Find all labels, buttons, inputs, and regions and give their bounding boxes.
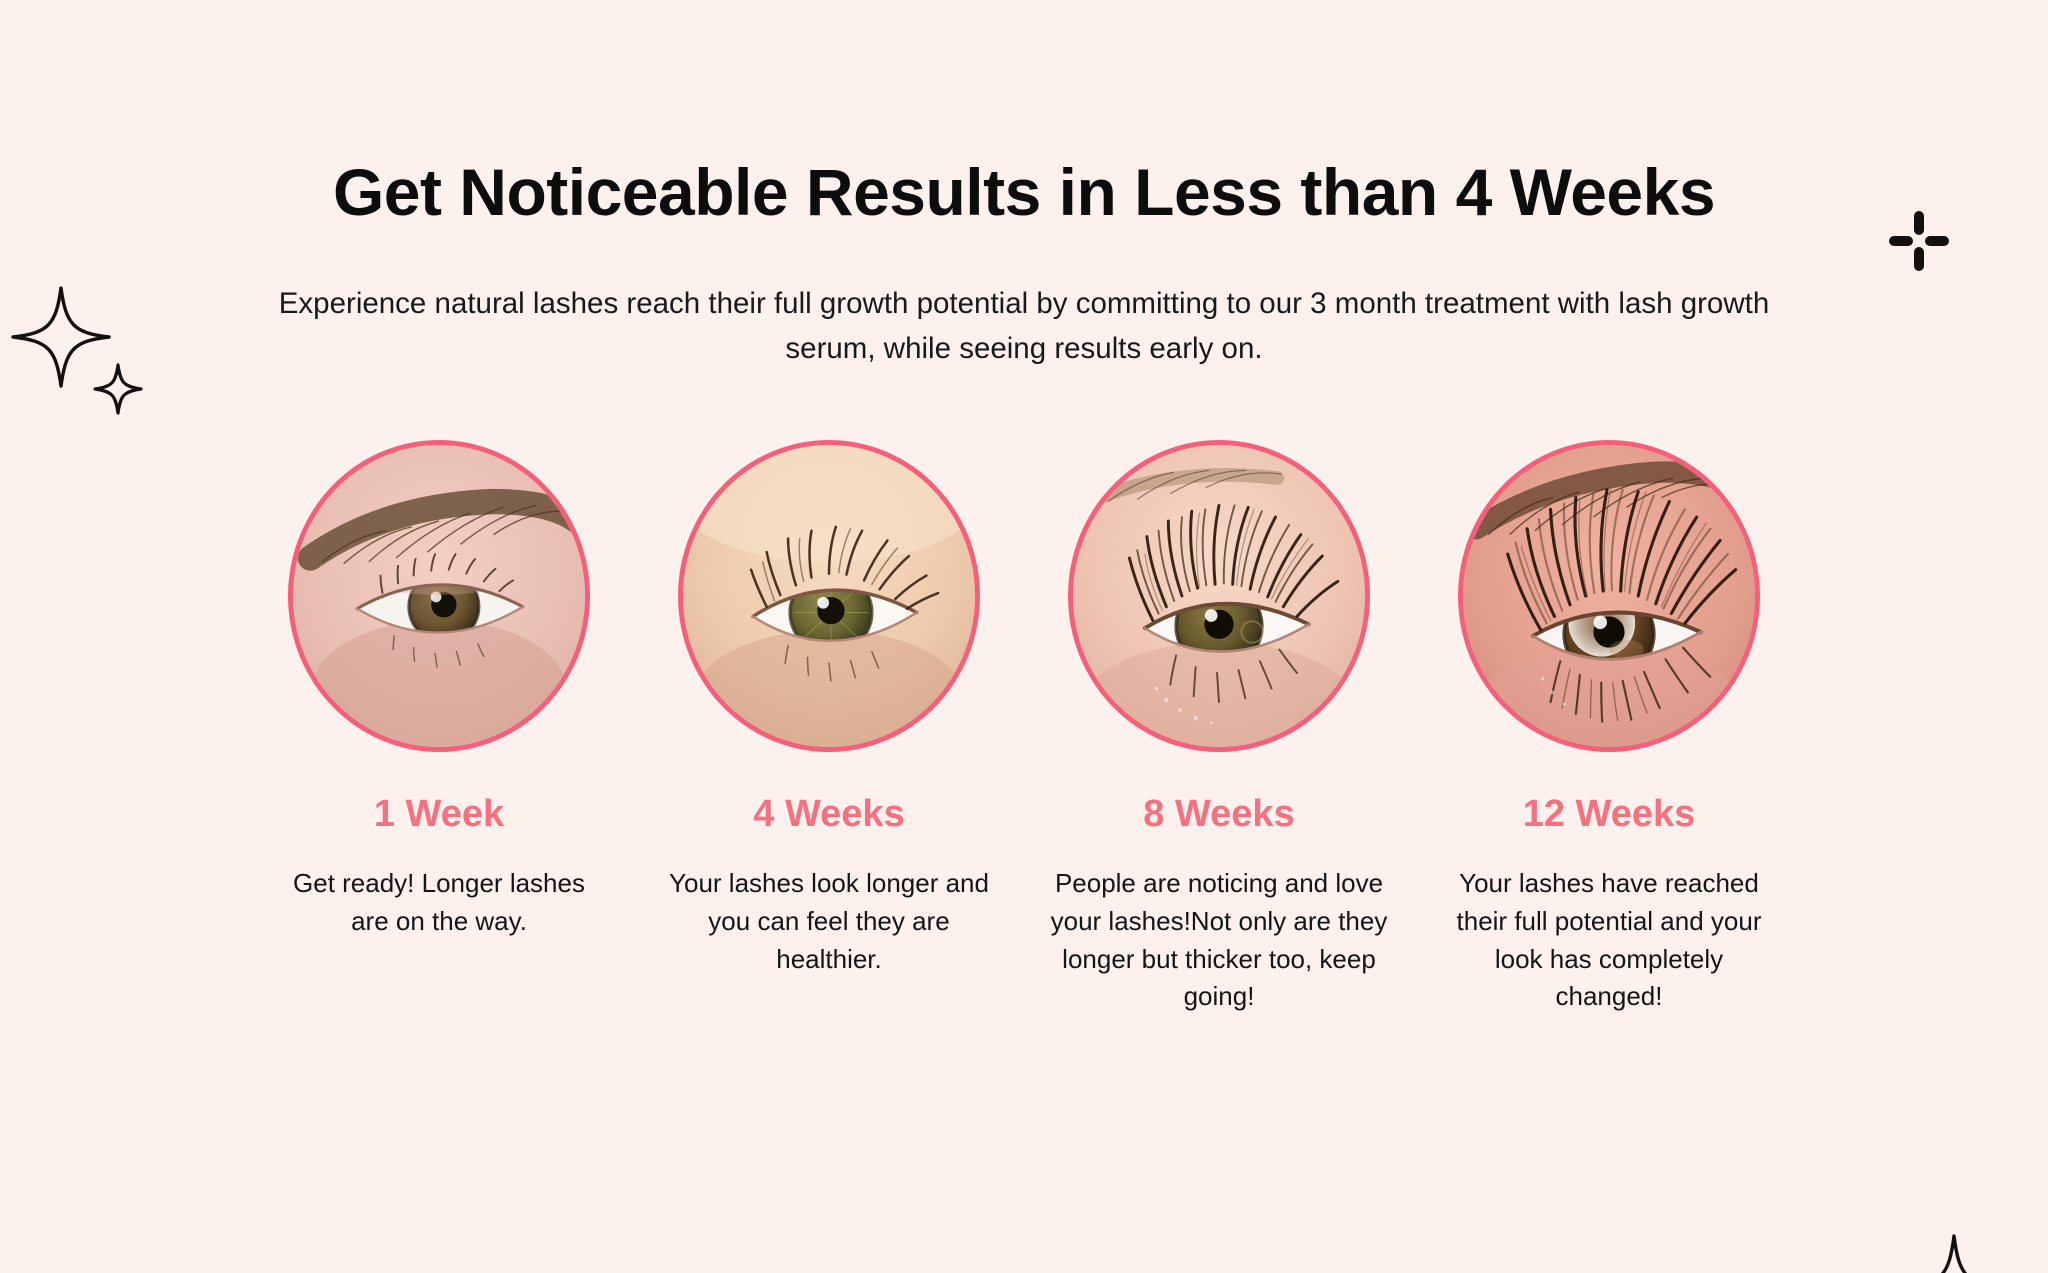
stage-card-week-8: 8 Weeks People are noticing and love you… xyxy=(1024,440,1414,1017)
eye-illustration-week-8 xyxy=(1073,445,1365,747)
promo-page: Get Noticeable Results in Less than 4 We… xyxy=(0,158,2048,1273)
eye-illustration-week-12 xyxy=(1463,445,1755,747)
stage-description: Your lashes have reached their full pote… xyxy=(1444,865,1774,1016)
stage-card-week-12: 12 Weeks Your lashes have reached their … xyxy=(1414,440,1804,1017)
stage-label: 12 Weeks xyxy=(1523,794,1696,836)
page-subtitle: Experience natural lashes reach their fu… xyxy=(239,282,1809,372)
eye-photo-week-12 xyxy=(1458,440,1760,752)
page-title: Get Noticeable Results in Less than 4 We… xyxy=(60,158,1988,228)
eye-photo-week-8 xyxy=(1068,440,1370,752)
stage-description: Get ready! Longer lashes are on the way. xyxy=(274,865,604,940)
stage-label: 8 Weeks xyxy=(1143,794,1294,836)
stage-card-week-4: 4 Weeks Your lashes look longer and you … xyxy=(634,440,1024,979)
eye-photo-week-1 xyxy=(288,440,590,752)
stage-card-week-1: 1 Week Get ready! Longer lashes are on t… xyxy=(244,440,634,941)
eye-illustration-week-4 xyxy=(683,445,975,747)
stage-label: 4 Weeks xyxy=(753,794,904,836)
stage-description: Your lashes look longer and you can feel… xyxy=(664,865,994,978)
eye-illustration-week-1 xyxy=(293,445,585,747)
stage-label: 1 Week xyxy=(374,794,504,836)
stage-description: People are noticing and love your lashes… xyxy=(1049,865,1389,1016)
eye-photo-week-4 xyxy=(678,440,980,752)
progress-stages-row: 1 Week Get ready! Longer lashes are on t… xyxy=(60,440,1988,1017)
